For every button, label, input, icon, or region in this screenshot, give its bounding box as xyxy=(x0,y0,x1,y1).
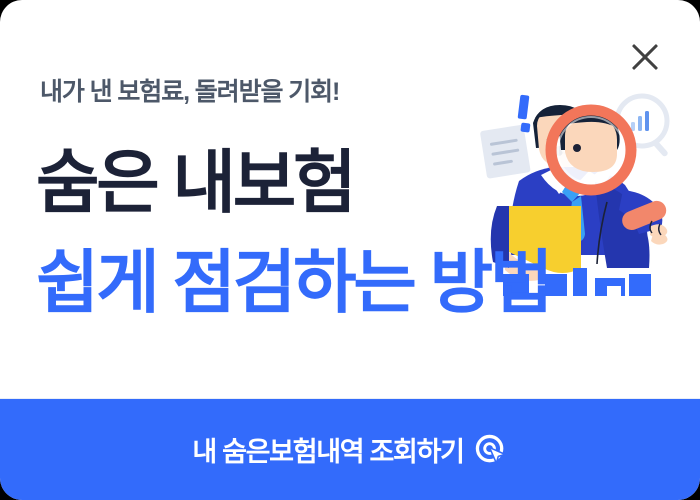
cta-label: 내 숨은보험내역 조회하기 xyxy=(192,430,463,469)
cursor-target-icon xyxy=(475,434,508,467)
magnifying-glass xyxy=(551,110,631,190)
cta-button[interactable]: 내 숨은보험내역 조회하기 xyxy=(0,399,700,500)
insurance-promo-banner: 내가 낸 보험료, 돌려받을 기회! 숨은 내보험 쉽게 점검하는 방법 내 숨… xyxy=(0,0,700,500)
businessman-with-magnifier-illustration xyxy=(455,78,695,303)
document-icon xyxy=(480,125,531,179)
eyebrow-text: 내가 낸 보험료, 돌려받을 기회! xyxy=(40,72,339,108)
headline-line-1: 숨은 내보험 xyxy=(36,148,353,217)
close-icon[interactable] xyxy=(624,36,666,78)
yellow-folder xyxy=(491,206,581,281)
